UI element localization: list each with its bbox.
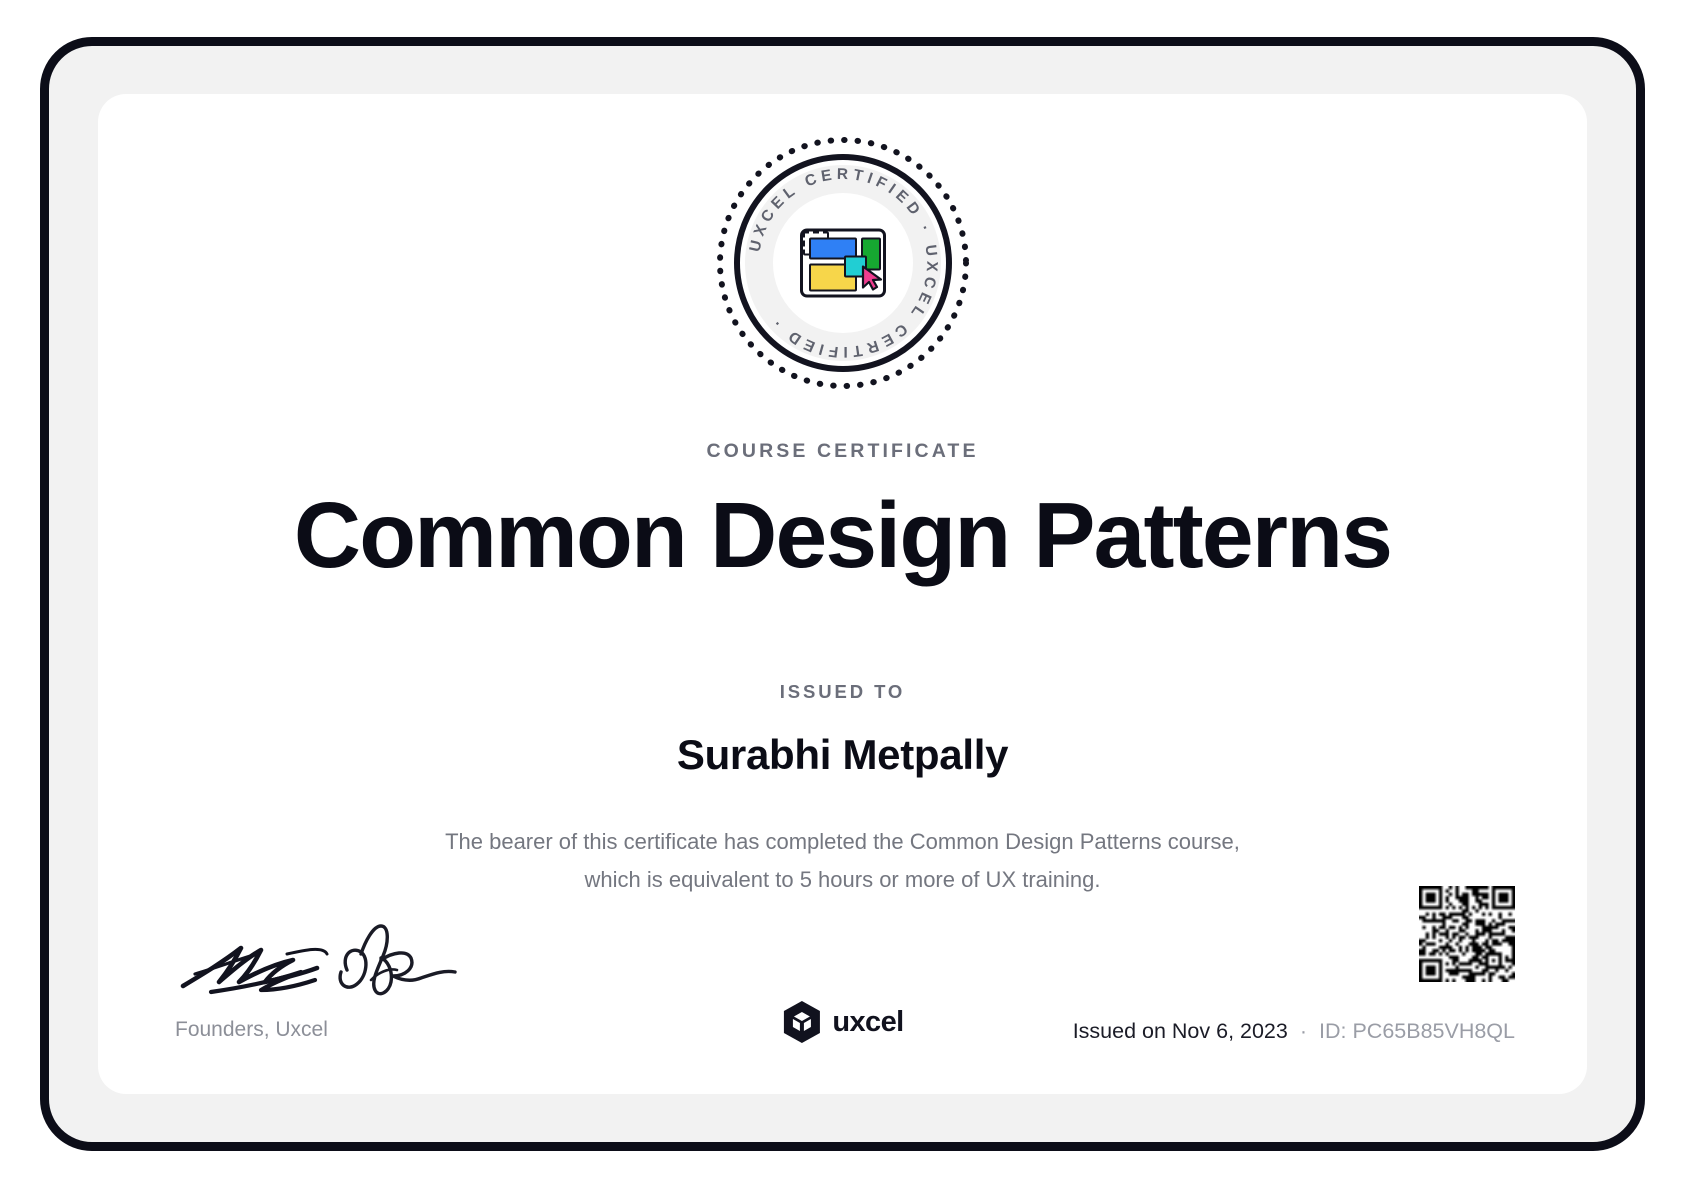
certificate-page: UXCEL CERTIFIED · UXCEL CERTIFIED · COUR… (0, 0, 1684, 1190)
uxcel-brand: uxcel (781, 1000, 903, 1044)
certificate-footer: Founders, Uxcel uxcel (98, 884, 1587, 1094)
uxcel-certified-seal: UXCEL CERTIFIED · UXCEL CERTIFIED · (712, 132, 974, 394)
uxcel-wordmark: uxcel (832, 1006, 903, 1039)
certificate-card: UXCEL CERTIFIED · UXCEL CERTIFIED · COUR… (98, 94, 1587, 1094)
issue-details: Issued on Nov 6, 2023 · ID: PC65B85VH8QL (1073, 1019, 1515, 1044)
page-title: Common Design Patterns (294, 487, 1391, 585)
issued-to-label: ISSUED TO (780, 681, 905, 703)
signature-caption: Founders, Uxcel (175, 1018, 515, 1042)
design-patterns-icon (800, 229, 886, 298)
certificate-id: ID: PC65B85VH8QL (1319, 1019, 1515, 1043)
recipient-name: Surabhi Metpally (677, 731, 1008, 779)
issue-date: Issued on Nov 6, 2023 (1073, 1019, 1288, 1043)
signature-block: Founders, Uxcel (175, 924, 515, 1042)
founders-signature-icon (175, 924, 475, 1004)
course-certificate-kicker: COURSE CERTIFICATE (706, 440, 978, 463)
issue-separator: · (1294, 1019, 1313, 1043)
certificate-qr-code[interactable] (1419, 886, 1515, 982)
uxcel-logo-icon (781, 1000, 821, 1044)
certificate-frame: UXCEL CERTIFIED · UXCEL CERTIFIED · COUR… (40, 37, 1645, 1151)
qr-canvas (1419, 886, 1515, 982)
cursor-arrow-icon (861, 266, 883, 292)
